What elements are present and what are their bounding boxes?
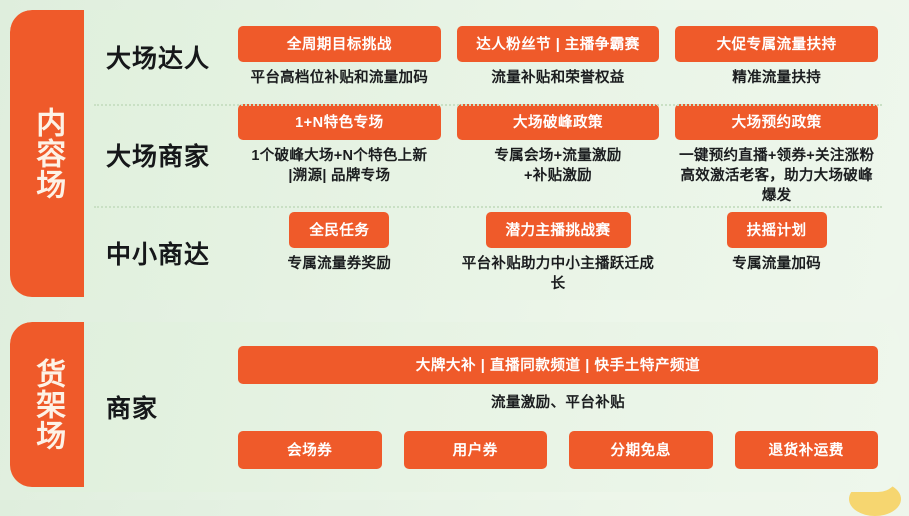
benefit-desc: 平台补贴助力中小主播跃迁成长 (457, 254, 660, 294)
row-cells: 全民任务 专属流量券奖励 潜力主播挑战赛 平台补贴助力中小主播跃迁成长 扶摇计划… (238, 212, 900, 294)
benefit-pill[interactable]: 潜力主播挑战赛 (486, 212, 631, 248)
content-section-card: 内容场 大场达人 全周期目标挑战 平台高档位补贴和流量加码 达人粉丝节 | 主播… (10, 10, 900, 300)
benefit-pill[interactable]: 大场预约政策 (675, 104, 878, 140)
section-label-shelf-text: 货架场 (29, 358, 66, 451)
shelf-banner-desc: 流量激励、平台补贴 (491, 391, 625, 412)
benefit-desc: 专属会场+流量激励 +补贴激励 (494, 146, 621, 186)
benefit-cell: 全民任务 专属流量券奖励 (238, 212, 441, 274)
row-cells: 1+N特色专场 1个破峰大场+N个特色上新 |溯源| 品牌专场 大场破峰政策 专… (238, 104, 900, 206)
shelf-chip[interactable]: 用户券 (404, 431, 548, 469)
shelf-content: 大牌大补 | 直播同款频道 | 快手土特产频道 流量激励、平台补贴 会场券 用户… (238, 346, 900, 469)
section-label-content: 内容场 (10, 10, 84, 297)
row-title: 大场商家 (106, 137, 238, 173)
benefit-cell: 大促专属流量扶持 精准流量扶持 (675, 26, 878, 88)
content-row-merchant: 大场商家 1+N特色专场 1个破峰大场+N个特色上新 |溯源| 品牌专场 大场破… (84, 104, 900, 206)
benefit-pill[interactable]: 扶摇计划 (727, 212, 827, 248)
shelf-chip[interactable]: 分期免息 (569, 431, 713, 469)
shelf-chip-row: 会场券 用户券 分期免息 退货补运费 (238, 431, 878, 469)
benefit-pill[interactable]: 达人粉丝节 | 主播争霸赛 (457, 26, 660, 62)
benefit-cell: 扶摇计划 专属流量加码 (675, 212, 878, 274)
row-title: 中小商达 (106, 235, 238, 271)
content-rows: 大场达人 全周期目标挑战 平台高档位补贴和流量加码 达人粉丝节 | 主播争霸赛 … (84, 10, 900, 300)
benefit-desc: 流量补贴和荣誉权益 (491, 68, 624, 88)
benefit-desc: 1个破峰大场+N个特色上新 |溯源| 品牌专场 (251, 146, 427, 186)
benefit-cell: 达人粉丝节 | 主播争霸赛 流量补贴和荣誉权益 (457, 26, 660, 88)
benefit-cell: 1+N特色专场 1个破峰大场+N个特色上新 |溯源| 品牌专场 (238, 104, 441, 186)
benefit-pill[interactable]: 大促专属流量扶持 (675, 26, 878, 62)
row-title: 大场达人 (106, 39, 238, 75)
row-cells: 全周期目标挑战 平台高档位补贴和流量加码 达人粉丝节 | 主播争霸赛 流量补贴和… (238, 26, 900, 88)
benefit-desc: 专属流量加码 (732, 254, 821, 274)
shelf-row-title: 商家 (106, 389, 238, 425)
benefit-pill[interactable]: 1+N特色专场 (238, 104, 441, 140)
benefit-desc: 专属流量券奖励 (288, 254, 392, 274)
shelf-chip[interactable]: 退货补运费 (735, 431, 879, 469)
shelf-body: 商家 大牌大补 | 直播同款频道 | 快手土特产频道 流量激励、平台补贴 会场券… (84, 322, 900, 492)
shelf-section-card: 货架场 商家 大牌大补 | 直播同款频道 | 快手土特产频道 流量激励、平台补贴… (10, 322, 900, 492)
benefit-desc: 精准流量扶持 (732, 68, 821, 88)
shelf-banner-pill[interactable]: 大牌大补 | 直播同款频道 | 快手土特产频道 (238, 346, 878, 384)
benefit-cell: 潜力主播挑战赛 平台补贴助力中小主播跃迁成长 (457, 212, 660, 294)
benefit-pill[interactable]: 大场破峰政策 (457, 104, 660, 140)
benefit-pill[interactable]: 全民任务 (289, 212, 389, 248)
benefit-pill[interactable]: 全周期目标挑战 (238, 26, 441, 62)
section-label-shelf: 货架场 (10, 322, 84, 487)
benefit-cell: 全周期目标挑战 平台高档位补贴和流量加码 (238, 26, 441, 88)
section-label-content-text: 内容场 (29, 107, 66, 200)
content-row-smb: 中小商达 全民任务 专属流量券奖励 潜力主播挑战赛 平台补贴助力中小主播跃迁成长… (84, 206, 900, 300)
content-row-daren: 大场达人 全周期目标挑战 平台高档位补贴和流量加码 达人粉丝节 | 主播争霸赛 … (84, 10, 900, 104)
shelf-chip[interactable]: 会场券 (238, 431, 382, 469)
benefit-desc: 平台高档位补贴和流量加码 (251, 68, 429, 88)
benefit-cell: 大场预约政策 一键预约直播+领券+关注涨粉 高效激活老客，助力大场破峰爆发 (675, 104, 878, 206)
benefit-cell: 大场破峰政策 专属会场+流量激励 +补贴激励 (457, 104, 660, 186)
benefit-desc: 一键预约直播+领券+关注涨粉 高效激活老客，助力大场破峰爆发 (675, 146, 878, 206)
